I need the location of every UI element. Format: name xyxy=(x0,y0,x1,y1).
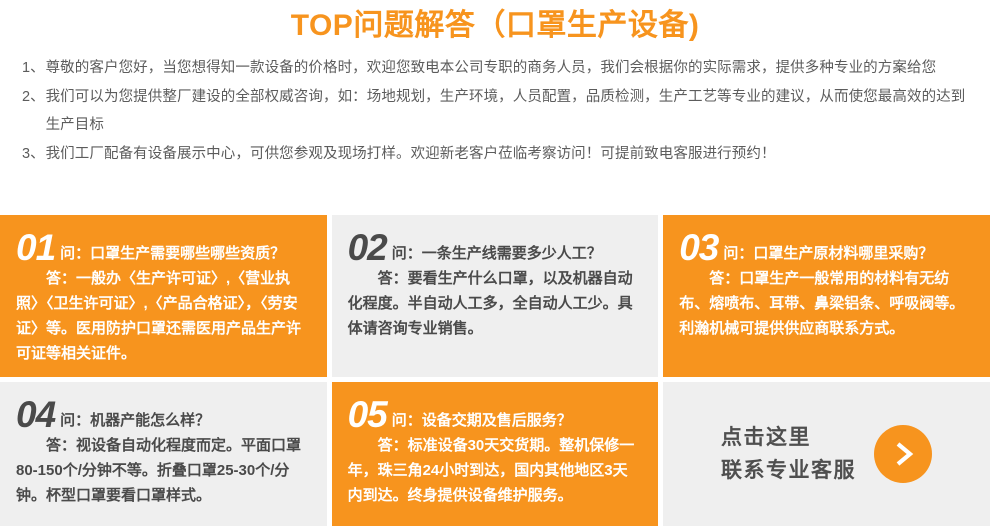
faq-question-text: 问：设备交期及售后服务？ xyxy=(389,410,642,432)
faq-row-top: 01 问：口罩生产需要哪些哪些资质？ 答：一般办〈生产许可证〉,〈营业执照〉〈卫… xyxy=(0,215,990,377)
faq-promo-banner: TOP问题解答（口罩生产设备) 1、 尊敬的客户您好，当您想得知一款设备的价格时… xyxy=(0,0,990,526)
intro-item: 3、 我们工厂配备有设备展示中心，可供您参观及现场打样。欢迎新老客户莅临考察访问… xyxy=(22,140,968,168)
intro-item-index: 3、 xyxy=(22,140,46,168)
contact-cta-button[interactable]: 点击这里 联系专业客服 xyxy=(663,382,990,526)
intro-item-index: 1、 xyxy=(22,54,46,82)
header: TOP问题解答（口罩生产设备) 1、 尊敬的客户您好，当您想得知一款设备的价格时… xyxy=(0,0,990,168)
faq-card-03[interactable]: 03 问：口罩生产原材料哪里采购？ 答：口罩生产一般常用的材料有无纺布、熔喷布、… xyxy=(663,215,990,377)
intro-item: 1、 尊敬的客户您好，当您想得知一款设备的价格时，欢迎您致电本公司专职的商务人员… xyxy=(22,54,968,82)
faq-answer-text: 答：视设备自动化程度而定。平面口罩80-150个/分钟不等。折叠口罩25-30个… xyxy=(16,433,311,508)
faq-question-line: 04 问：机器产能怎么样？ xyxy=(16,396,311,432)
faq-question-line: 05 问：设备交期及售后服务？ xyxy=(348,396,643,432)
intro-item-index: 2、 xyxy=(22,83,46,111)
faq-card-02[interactable]: 02 问：一条生产线需要多少人工？ 答：要看生产什么口罩，以及机器自动化程度。半… xyxy=(332,215,659,377)
faq-answer-text: 答：一般办〈生产许可证〉,〈营业执照〉〈卫生许可证〉,〈产品合格证〉，〈劳安证〉… xyxy=(16,266,311,366)
faq-card-01[interactable]: 01 问：口罩生产需要哪些哪些资质？ 答：一般办〈生产许可证〉,〈营业执照〉〈卫… xyxy=(0,215,327,377)
faq-card-number: 02 xyxy=(348,231,387,265)
faq-card-number: 03 xyxy=(679,231,718,265)
cta-label: 点击这里 联系专业客服 xyxy=(721,421,856,487)
intro-item-text: 我们可以为您提供整厂建设的全部权威咨询，如：场地规划，生产环境，人员配置，品质检… xyxy=(46,83,968,139)
faq-row-bottom: 04 问：机器产能怎么样？ 答：视设备自动化程度而定。平面口罩80-150个/分… xyxy=(0,382,990,526)
faq-card-number: 04 xyxy=(16,398,55,432)
faq-answer-text: 答：标准设备30天交货期。整机保修一年，珠三角24小时到达，国内其他地区3天内到… xyxy=(348,433,643,508)
faq-question-text: 问：机器产能怎么样？ xyxy=(57,410,310,432)
cta-arrow-button[interactable] xyxy=(874,425,932,483)
chevron-right-icon xyxy=(888,439,918,469)
intro-item-text: 尊敬的客户您好，当您想得知一款设备的价格时，欢迎您致电本公司专职的商务人员，我们… xyxy=(46,54,968,82)
faq-card-grid: 01 问：口罩生产需要哪些哪些资质？ 答：一般办〈生产许可证〉,〈营业执照〉〈卫… xyxy=(0,215,990,526)
faq-card-number: 01 xyxy=(16,231,55,265)
faq-question-line: 01 问：口罩生产需要哪些哪些资质？ xyxy=(16,229,311,265)
intro-list: 1、 尊敬的客户您好，当您想得知一款设备的价格时，欢迎您致电本公司专职的商务人员… xyxy=(0,44,990,168)
faq-answer-text: 答：要看生产什么口罩，以及机器自动化程度。半自动人工多，全自动人工少。具体请咨询… xyxy=(348,266,643,341)
faq-answer-text: 答：口罩生产一般常用的材料有无纺布、熔喷布、耳带、鼻梁铝条、呼吸阀等。利瀚机械可… xyxy=(679,266,974,341)
faq-card-05[interactable]: 05 问：设备交期及售后服务？ 答：标准设备30天交货期。整机保修一年，珠三角2… xyxy=(332,382,659,526)
page-title: TOP问题解答（口罩生产设备) xyxy=(0,0,990,44)
intro-item: 2、 我们可以为您提供整厂建设的全部权威咨询，如：场地规划，生产环境，人员配置，… xyxy=(22,83,968,139)
cta-label-line2: 联系专业客服 xyxy=(721,454,856,487)
cta-label-line1: 点击这里 xyxy=(721,421,856,454)
intro-item-text: 我们工厂配备有设备展示中心，可供您参观及现场打样。欢迎新老客户莅临考察访问！可提… xyxy=(46,140,968,168)
faq-question-text: 问：一条生产线需要多少人工？ xyxy=(389,243,642,265)
faq-card-number: 05 xyxy=(348,398,387,432)
faq-card-04[interactable]: 04 问：机器产能怎么样？ 答：视设备自动化程度而定。平面口罩80-150个/分… xyxy=(0,382,327,526)
faq-question-line: 02 问：一条生产线需要多少人工？ xyxy=(348,229,643,265)
faq-question-text: 问：口罩生产原材料哪里采购？ xyxy=(720,243,973,265)
faq-question-text: 问：口罩生产需要哪些哪些资质？ xyxy=(57,243,310,265)
faq-question-line: 03 问：口罩生产原材料哪里采购？ xyxy=(679,229,974,265)
